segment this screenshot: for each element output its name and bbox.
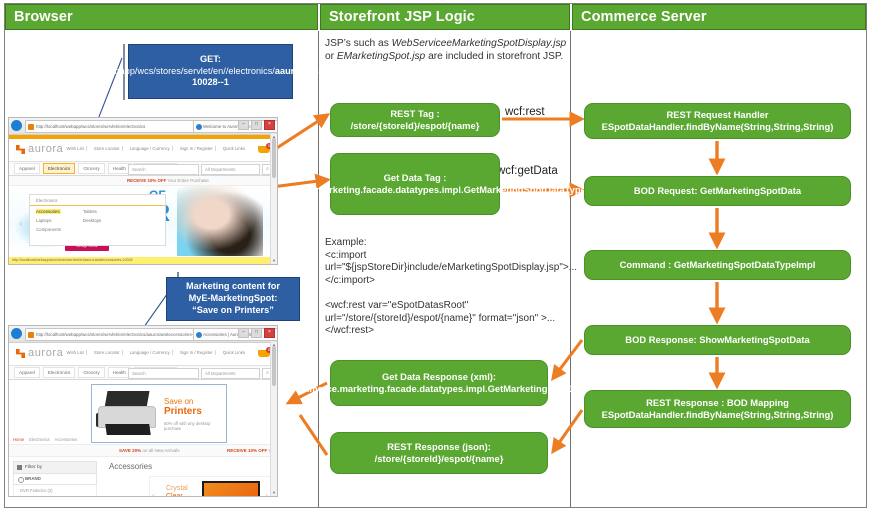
nav-item-electronics-category[interactable]: Electronics <box>43 367 75 378</box>
product-monitor-image <box>202 481 260 497</box>
breadcrumb-accessories[interactable]: Accessories <box>55 437 78 442</box>
scroll-thumb-category[interactable] <box>272 346 276 386</box>
box-rest-request-handler-line2: ESpotDataHandler.findByName(String,Strin… <box>602 121 834 133</box>
jsp-example-code: Example: <c:import url="${jspStoreDir}in… <box>325 237 568 338</box>
printer-image <box>96 391 158 437</box>
box-get-data-response: Get Data Response (xml):com.ibm.commerce… <box>330 360 548 406</box>
utility-wish-list-category[interactable]: Wish List <box>64 350 86 355</box>
dropdown-item-components[interactable]: Components <box>36 227 61 232</box>
box-rest-tag: REST Tag :/store/{storeId}/espot/{name} <box>330 103 500 137</box>
column-header-browser: Browser <box>5 4 318 30</box>
utility-wish-list[interactable]: Wish List <box>64 146 86 151</box>
nav-item-grocery[interactable]: Grocery <box>78 163 104 174</box>
electronics-dropdown-menu[interactable]: Electronics Accessories Laptops Componen… <box>29 194 166 246</box>
window-buttons-home[interactable]: – □ × <box>238 120 275 130</box>
scroll-down-icon-category[interactable]: ▼ <box>271 490 277 496</box>
breadcrumb-home[interactable]: Home <box>13 437 24 442</box>
site-header-home: aurora Wish List Store Locator Language … <box>9 139 277 161</box>
dropdown-column-1[interactable]: Accessories Laptops Components <box>36 209 61 232</box>
filter-group-brand[interactable]: BRAND <box>13 474 97 485</box>
box-rest-request-handler: REST Request HandlerESpotDataHandler.fin… <box>584 103 851 139</box>
nav-item-electronics[interactable]: Electronics <box>43 163 75 174</box>
main-nav-category[interactable]: Apparel Electronics Grocery Health All D… <box>9 365 277 380</box>
box-rest-response: REST Response (json):/store/{storeId}/es… <box>330 432 548 474</box>
espot-subtext: 50% off with any desktop purchase <box>164 421 218 432</box>
nav-item-grocery-category[interactable]: Grocery <box>78 367 104 378</box>
box-get-data-tag-line1: Get Data Tag : <box>384 172 447 183</box>
browser-chrome-home: http://localhost/webapp/wcs/stores/servl… <box>9 118 277 135</box>
site-header-category: aurora Wish List Store Locator Language … <box>9 343 277 365</box>
aurora-logo-icon-category <box>16 349 25 358</box>
search-department-select-category[interactable]: All Departments <box>201 368 260 379</box>
filter-panel[interactable]: Filter by BRAND DVR Federico (2) Adelee … <box>13 461 97 497</box>
catalog-title: Accessories <box>109 462 152 471</box>
utility-language-currency[interactable]: Language / Currency <box>128 146 173 151</box>
espot-line2: Printers <box>164 407 202 417</box>
browser-chrome-category: http://localhost/webapp/wcs/stores/servl… <box>9 326 277 343</box>
utility-sign-in-register[interactable]: Sign In / Register <box>178 146 216 151</box>
breadcrumb[interactable]: Home Electronics Accessories <box>13 437 77 442</box>
box-command: Command : GetMarketingSpotDataTypeImpl <box>584 250 851 280</box>
promo-text-home: RECEIVE 10% OFF Your Entire Purchase <box>127 178 209 183</box>
callout-marketing-content: Marketing content for MyE-MarketingSpot:… <box>166 277 300 321</box>
close-icon-category[interactable]: × <box>264 328 275 338</box>
box-bod-request: BOD Request: GetMarketingSpotData <box>584 176 851 206</box>
callout-get-title: GET: <box>200 54 221 66</box>
dropdown-item-laptops[interactable]: Laptops <box>36 218 61 223</box>
search-input-category[interactable]: Search <box>128 368 199 379</box>
minimize-icon-category[interactable]: – <box>238 328 249 338</box>
utility-nav-home[interactable]: Wish List Store Locator Language / Curre… <box>64 146 247 151</box>
scroll-down-icon[interactable]: ▼ <box>271 258 277 264</box>
hero-model-image <box>177 186 263 256</box>
diagram-canvas: Browser Storefront JSP Logic Commerce Se… <box>0 0 872 513</box>
label-wcf-rest: wcf:rest <box>505 106 545 118</box>
box-rest-request-handler-line1: REST Request Handler <box>666 109 768 120</box>
espot-printer-banner: Save on Printers 50% off with any deskto… <box>9 380 277 444</box>
dropdown-item-tablets[interactable]: Tablets <box>83 209 101 214</box>
scrollbar-home[interactable]: ▲ ▼ <box>270 134 277 264</box>
nav-item-apparel-category[interactable]: Apparel <box>14 367 40 378</box>
box-rest-response-line2: /store/{storeId}/espot/{name} <box>375 453 504 465</box>
utility-store-locator[interactable]: Store Locator <box>92 146 123 151</box>
search-area-home[interactable]: Search All Departments ⌕ <box>128 164 273 175</box>
search-department-select-home[interactable]: All Departments <box>201 164 260 175</box>
box-rest-response-mapping-line2: ESpotDataHandler.findByName(String,Strin… <box>602 409 834 421</box>
box-bod-response: BOD Response: ShowMarketingSpotData <box>584 325 851 355</box>
screenshot-home-page: http://localhost/webapp/wcs/stores/servl… <box>8 117 278 265</box>
column-header-storefront-jsp-logic: Storefront JSP Logic <box>320 4 570 30</box>
jsp-intro-text: JSP’s such as WebServiceeMarketingSpotDi… <box>325 37 568 63</box>
maximize-icon-category[interactable]: □ <box>251 328 262 338</box>
aurora-wordmark-home: aurora <box>28 143 63 155</box>
address-bar-category[interactable]: http://localhost/webapp/wcs/stores/servl… <box>25 328 197 341</box>
product-carousel[interactable]: ‹ Crystal Clear › <box>149 476 271 497</box>
dropdown-item-desktops[interactable]: Desktops <box>83 218 101 223</box>
product-label-line2: Clear <box>166 493 188 497</box>
callout-marketing-line2: MyE-MarketingSpot: <box>189 293 278 305</box>
promo-bar-home: RECEIVE 10% OFF Your Entire Purchase <box>9 176 277 186</box>
box-rest-response-mapping-line1: REST Response : BOD Mapping <box>646 397 789 408</box>
window-buttons-category[interactable]: – □ × <box>238 328 275 338</box>
callout-marketing-line1: Marketing content for <box>186 281 280 293</box>
browser-back-icon-category[interactable] <box>11 328 22 339</box>
address-bar-home[interactable]: http://localhost/webapp/wcs/stores/servl… <box>25 120 197 133</box>
status-bar-home: http://localhost/webapp/wcs/stores/servl… <box>9 257 278 264</box>
scrollbar-category[interactable]: ▲ ▼ <box>270 342 277 496</box>
utility-language-currency-category[interactable]: Language / Currency <box>128 350 173 355</box>
callout-get-request: GET: http://localhost/webapp/wcs/stores/… <box>128 44 293 99</box>
printer-output-tray <box>105 424 151 435</box>
promo-left-category: SAVE 20% on all New Arrivals <box>119 448 179 453</box>
espot-headline: Save on Printers <box>164 397 202 417</box>
carousel-prev-icon[interactable]: ‹ <box>152 490 155 497</box>
carousel-next-icon[interactable]: › <box>265 490 268 497</box>
close-icon[interactable]: × <box>264 120 275 130</box>
box-rest-tag-line2: /store/{storeId}/espot/{name} <box>351 120 480 132</box>
box-get-data-response-line2: com.ibm.commerce.marketing.facade.dataty… <box>249 383 629 395</box>
box-get-data-tag: Get Data Tag :com.ibm.commerce.marketing… <box>330 153 500 215</box>
utility-quick-links[interactable]: Quick Links <box>221 146 247 151</box>
promo-bar-category: SAVE 20% on all New Arrivals RECEIVE 10%… <box>9 444 277 457</box>
espot-line1: Save on <box>164 397 193 406</box>
box-rest-response-line1: REST Response (json): <box>387 441 491 452</box>
scroll-thumb-home[interactable] <box>272 138 276 178</box>
catalog-area: Filter by BRAND DVR Federico (2) Adelee … <box>9 457 277 497</box>
column-header-commerce-server: Commerce Server <box>572 4 866 30</box>
filter-panel-title: Filter by <box>13 461 97 474</box>
filter-item-0[interactable]: DVR Federico (2) <box>13 485 97 497</box>
utility-quick-links-category[interactable]: Quick Links <box>221 350 247 355</box>
search-input-home[interactable]: Search <box>128 164 199 175</box>
callout-get-url: http://localhost/webapp/wcs/stores/servl… <box>41 66 380 90</box>
main-nav-home[interactable]: Apparel Electronics Grocery Health All D… <box>9 161 277 176</box>
hero-prev-arrow-icon[interactable]: ‹ <box>19 218 23 230</box>
callout-marketing-line3: “Save on Printers” <box>192 305 274 317</box>
utility-nav-category[interactable]: Wish List Store Locator Language / Curre… <box>64 350 247 355</box>
box-rest-response-bod-mapping: REST Response : BOD MappingESpotDataHand… <box>584 390 851 428</box>
dropdown-header-electronics: Electronics <box>30 195 165 206</box>
search-area-category[interactable]: Search All Departments ⌕ <box>128 368 273 379</box>
aurora-logo-icon <box>16 145 25 154</box>
minimize-icon[interactable]: – <box>238 120 249 130</box>
breadcrumb-electronics[interactable]: Electronics <box>29 437 49 442</box>
utility-sign-in-register-category[interactable]: Sign In / Register <box>178 350 216 355</box>
column-divider-left <box>318 31 319 507</box>
product-label: Crystal Clear <box>166 485 188 497</box>
browser-back-icon[interactable] <box>11 120 22 131</box>
dropdown-item-accessories[interactable]: Accessories <box>36 209 61 214</box>
box-get-data-response-line1: Get Data Response (xml): <box>382 371 496 382</box>
aurora-wordmark-category: aurora <box>28 347 63 359</box>
box-rest-tag-line1: REST Tag : <box>390 108 439 119</box>
screenshot-category-page: http://localhost/webapp/wcs/stores/servl… <box>8 325 278 497</box>
dropdown-column-2[interactable]: Tablets Desktops <box>83 209 101 232</box>
product-label-line1: Crystal <box>166 485 188 492</box>
maximize-icon[interactable]: □ <box>251 120 262 130</box>
espot-card: Save on Printers 50% off with any deskto… <box>91 384 227 443</box>
utility-store-locator-category[interactable]: Store Locator <box>92 350 123 355</box>
nav-item-apparel[interactable]: Apparel <box>14 163 40 174</box>
box-get-data-tag-line2: com.ibm.commerce.marketing.facade.dataty… <box>225 184 605 196</box>
